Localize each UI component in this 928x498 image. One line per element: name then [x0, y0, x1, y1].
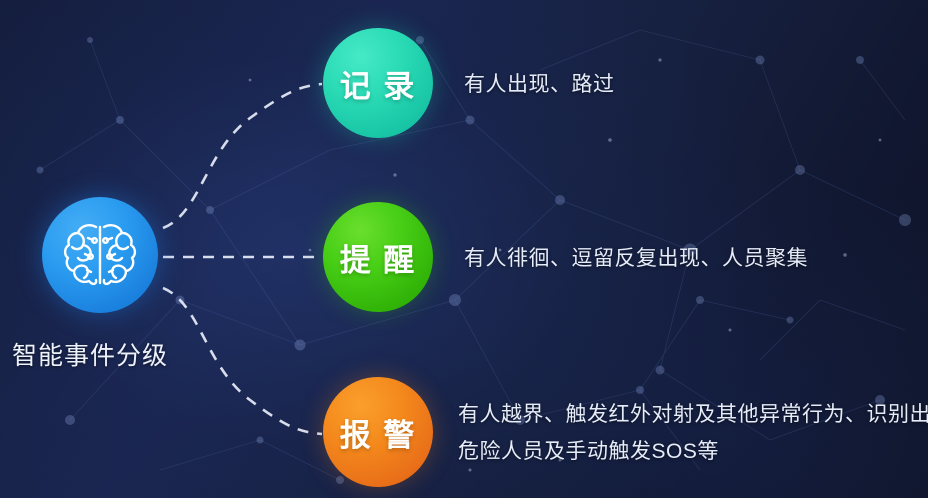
level-node-record[interactable]: 记 录 — [323, 28, 433, 138]
brain-icon — [63, 220, 137, 290]
level-description-remind: 有人徘徊、逗留反复出现、人员聚集 — [464, 240, 808, 277]
level-description-alarm-line-2: 危险人员及手动触发SOS等 — [458, 433, 928, 470]
level-node-alarm-badge: 报 警 — [340, 410, 417, 455]
connector-root-to-record — [163, 84, 322, 228]
level-description-alarm: 有人越界、触发红外对射及其他异常行为、识别出 危险人员及手动触发SOS等 — [458, 396, 928, 470]
level-node-alarm[interactable]: 报 警 — [323, 377, 433, 487]
level-node-remind-badge: 提 醒 — [340, 235, 417, 280]
level-node-record-badge: 记 录 — [340, 61, 417, 106]
root-node-label: 智能事件分级 — [12, 336, 212, 372]
diagram-canvas: 智能事件分级 记 录 有人出现、路过 提 醒 有人徘徊、逗留反复出现、人员聚集 … — [0, 0, 928, 498]
level-node-remind[interactable]: 提 醒 — [323, 202, 433, 312]
level-description-alarm-line-1: 有人越界、触发红外对射及其他异常行为、识别出 — [458, 396, 928, 433]
level-description-record: 有人出现、路过 — [464, 66, 615, 103]
root-node-intelligent-event-grading[interactable] — [42, 197, 158, 313]
